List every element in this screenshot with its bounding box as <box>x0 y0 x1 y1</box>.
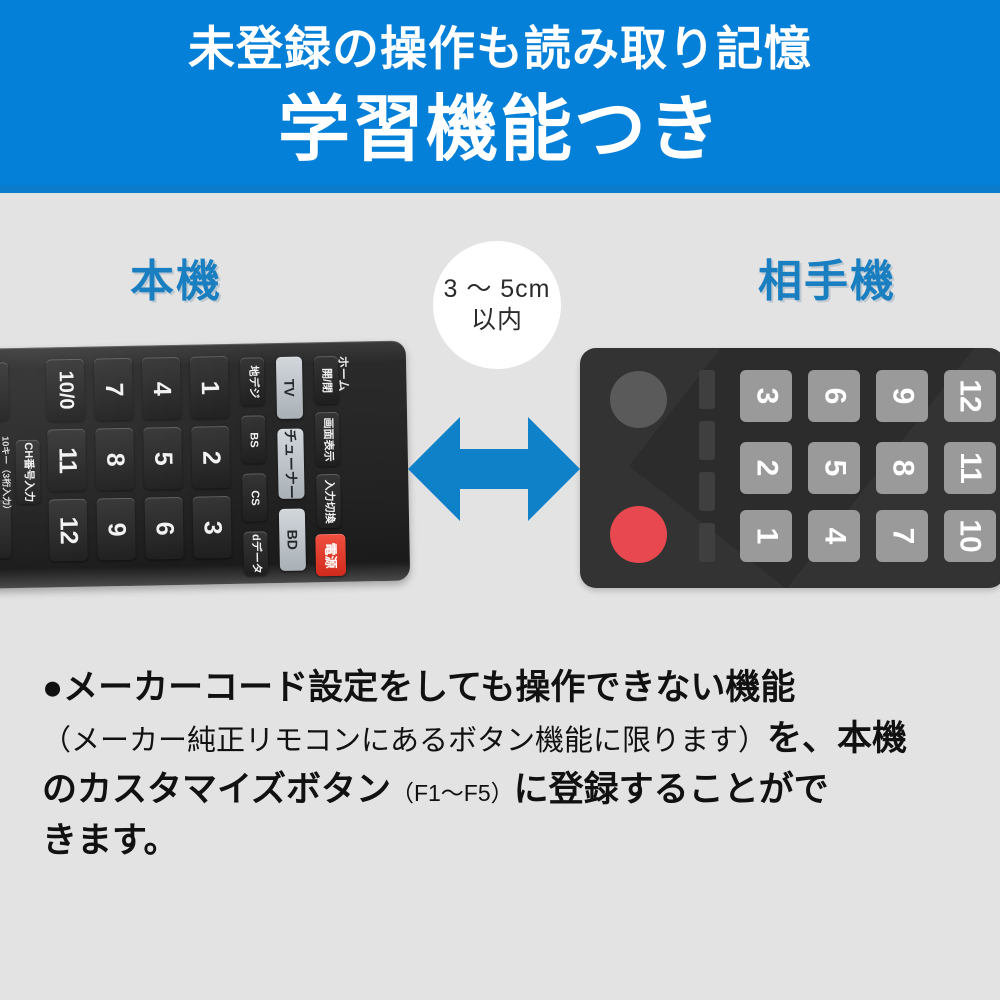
numeric-key[interactable]: 3 <box>193 496 232 559</box>
description-line-3: のカスタマイズボタン（F1〜F5）に登録することがで <box>42 764 958 815</box>
own-remote-body: ∨ 音量 ＋ オフタイマー チャンネル CH番号入力 <box>0 341 410 590</box>
target-remote-key[interactable]: 3 <box>740 370 792 422</box>
screen-display-button[interactable]: 画面表示 <box>315 412 340 466</box>
description-line-3-paren: （F1〜F5） <box>391 780 514 806</box>
target-remote-key[interactable]: 8 <box>876 442 928 494</box>
banner-underline <box>0 185 1000 193</box>
target-remote-bar[interactable] <box>699 472 715 511</box>
numeric-key[interactable]: 8 <box>95 428 134 491</box>
target-remote-bar[interactable] <box>699 370 715 409</box>
target-remote-key[interactable]: 11 <box>944 442 996 494</box>
power-button[interactable]: 電源 <box>315 534 346 577</box>
device-button-bd[interactable]: BD <box>279 509 306 571</box>
distance-badge-range: 3 〜 5cm <box>443 274 550 305</box>
description-line-3-a: のカスタマイズボタン <box>42 770 391 809</box>
source-button-bs[interactable]: BS <box>241 415 266 463</box>
numeric-key[interactable]: 11 <box>47 429 86 492</box>
target-remote-key[interactable]: 9 <box>876 370 928 422</box>
device-button-tv[interactable]: TV <box>276 357 303 419</box>
source-button-ddata[interactable]: dデータ <box>243 531 268 575</box>
distance-badge-within: 以内 <box>471 305 523 336</box>
target-remote: 3 2 1 6 5 4 9 8 <box>580 348 1000 588</box>
numeric-key[interactable]: 10/0 <box>46 359 85 422</box>
home-label: ホーム <box>352 355 388 373</box>
volume-down-button[interactable]: ∨ <box>0 362 9 421</box>
label-own-device: 本機 <box>130 245 222 309</box>
target-remote-key[interactable]: 6 <box>808 370 860 422</box>
pairing-diagram: 本機 相手機 3 〜 5cm 以内 ∨ 音量 ＋ <box>0 193 1000 640</box>
target-remote-key[interactable]: 7 <box>876 510 928 562</box>
numeric-key[interactable]: 5 <box>143 427 182 490</box>
own-remote: ∨ 音量 ＋ オフタイマー チャンネル CH番号入力 <box>0 341 412 595</box>
target-remote-bar[interactable] <box>699 523 715 562</box>
description-line-2-note: （メーカー純正リモコンにあるボタン機能に限ります） <box>42 725 767 757</box>
ch-number-input-button[interactable]: CH番号入力 <box>15 440 40 504</box>
banner-headline-small: 未登録の操作も読み取り記憶 <box>0 23 1000 75</box>
target-remote-power-button[interactable] <box>610 506 667 563</box>
numeric-key[interactable]: 9 <box>97 498 136 561</box>
numeric-key[interactable]: 7 <box>94 358 133 421</box>
description-line-2: （メーカー純正リモコンにあるボタン機能に限ります）を、本機 <box>42 713 958 764</box>
banner-headline-large: 学習機能つき <box>0 91 1000 170</box>
numeric-key[interactable]: 2 <box>191 426 230 489</box>
label-target-device: 相手機 <box>758 245 896 309</box>
distance-badge: 3 〜 5cm 以内 <box>433 241 561 369</box>
numeric-key[interactable]: 6 <box>145 497 184 560</box>
header-banner: 未登録の操作も読み取り記憶 学習機能つき <box>0 0 1000 193</box>
description-line-2-bold: を、本機 <box>767 719 907 758</box>
device-button-tuner[interactable]: チューナー <box>277 429 304 499</box>
numeric-key[interactable]: 12 <box>49 499 88 562</box>
product-feature-image: 未登録の操作も読み取り記憶 学習機能つき 本機 相手機 3 〜 5cm 以内 ∨… <box>0 0 1000 1000</box>
target-remote-bar[interactable] <box>699 421 715 460</box>
double-headed-arrow-icon <box>408 408 580 530</box>
target-remote-key[interactable]: 5 <box>808 442 860 494</box>
input-select-button[interactable]: 入力切換 <box>316 474 341 528</box>
target-remote-key[interactable]: 2 <box>740 442 792 494</box>
target-remote-gray-button[interactable] <box>610 371 667 428</box>
description-line-4: きます。 <box>42 815 958 866</box>
source-button-terrestrial[interactable]: 地デジ <box>240 357 265 405</box>
numeric-key[interactable]: 4 <box>142 357 181 420</box>
target-remote-key[interactable]: 1 <box>740 510 792 562</box>
description-line-3-b: に登録することがで <box>514 770 829 809</box>
description-text-block: ●メーカーコード設定をしても操作できない機能 （メーカー純正リモコンにあるボタン… <box>0 640 1000 1000</box>
source-button-cs[interactable]: CS <box>242 473 267 521</box>
target-remote-key[interactable]: 12 <box>944 370 996 422</box>
target-remote-key[interactable]: 10 <box>944 510 996 562</box>
description-line-1: ●メーカーコード設定をしても操作できない機能 <box>42 662 958 713</box>
target-remote-key[interactable]: 4 <box>808 510 860 562</box>
numeric-key[interactable]: 1 <box>190 356 229 419</box>
